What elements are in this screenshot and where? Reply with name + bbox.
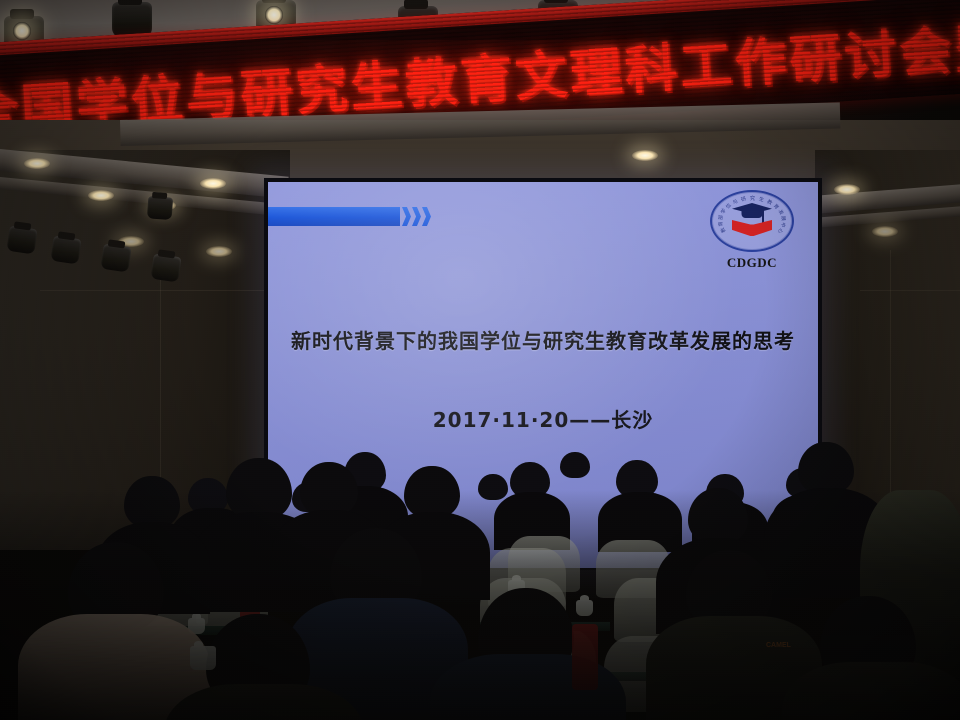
audience-head (798, 442, 854, 494)
track-light-icon (50, 236, 81, 265)
logo-acronym: CDGDC (704, 255, 800, 271)
recessed-downlight-icon (200, 178, 226, 189)
recessed-downlight-icon (88, 190, 114, 201)
wall-panel-seam (860, 290, 960, 291)
chevron-right-icon (412, 207, 421, 226)
conference-hall-photo: 全国学位与研究生教育文理科工作研讨会暨学术 教育部学位与研究生教育发展中心 (0, 0, 960, 720)
chevron-right-icon (402, 207, 411, 226)
recessed-downlight-icon (632, 150, 658, 161)
recessed-downlight-icon (24, 158, 50, 169)
slide-accent-bar (268, 207, 400, 226)
audience-shadow-overlay (0, 490, 960, 720)
recessed-downlight-icon (206, 246, 232, 257)
logo-ring-text: 教育部学位与研究生教育发展中心 (712, 192, 792, 250)
graduation-cap-base-icon (742, 210, 763, 218)
recessed-downlight-icon (834, 184, 860, 195)
audience-head (560, 452, 590, 478)
recessed-downlight-icon (872, 226, 898, 237)
tassel-icon (762, 208, 764, 224)
track-light-icon (147, 196, 173, 220)
chevron-right-icon (422, 207, 431, 226)
logo-oval-ring: 教育部学位与研究生教育发展中心 (710, 190, 794, 252)
audience-area: CAMEL (0, 400, 960, 720)
track-light-icon (100, 244, 131, 273)
track-light-icon (6, 226, 37, 255)
slide-title: 新时代背景下的我国学位与研究生教育改革发展的思考 (268, 325, 818, 354)
cdgdc-logo: 教育部学位与研究生教育发展中心 CDGDC (704, 190, 800, 268)
track-light-icon (150, 254, 181, 283)
